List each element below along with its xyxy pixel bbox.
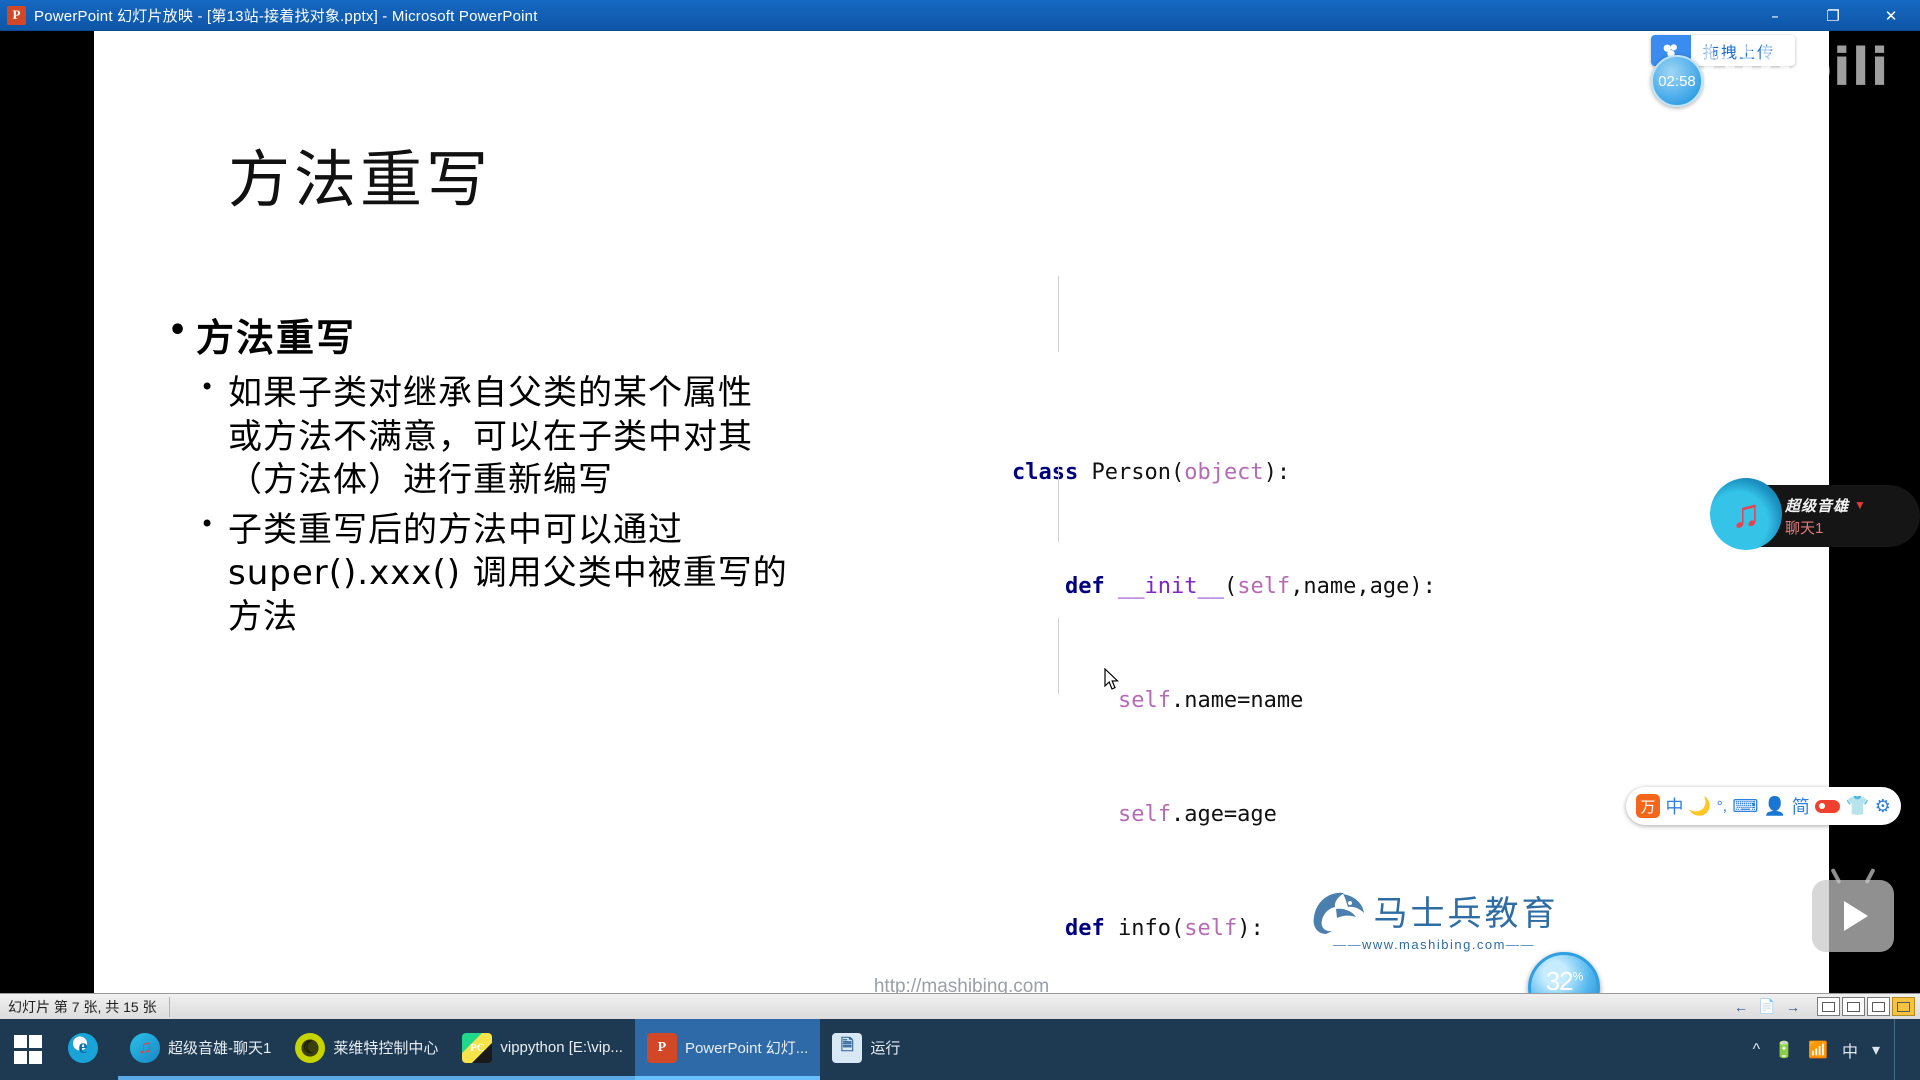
audio-widget-name: 超级音雄 [1785,495,1849,516]
arrow-left-icon[interactable]: ← [1728,996,1754,1018]
bilibili-watermark: bilibili [1700,38,1889,98]
taskbar-label-powerpoint: PowerPoint 幻灯... [685,1037,808,1058]
chevron-up-icon[interactable]: ^ [1753,1041,1761,1059]
speed-ball-unit: % [1573,969,1583,983]
audio-widget-sub: 聊天1 [1785,517,1866,538]
arrow-right-icon[interactable]: → [1780,996,1806,1018]
indent-guide [1058,618,1059,694]
indent-guide [1058,466,1059,542]
bullet-sub-1: 如果子类对继承自父类的某个属性 或方法不满意，可以在子类中对其 （方法体）进行重… [156,372,956,503]
mashibing-logo-text: 马士兵教育 [1374,886,1559,935]
page-title: 方法重写 [228,129,492,219]
bullet-main: 方法重写 [156,311,956,366]
baidu-timer-badge[interactable]: 02:58 [1651,55,1703,107]
mashibing-logo-row: 马士兵教育 [1309,886,1559,935]
mashibing-logo-url: www.mashibing.com [1309,937,1559,952]
speed-ball-percent: 32% [1546,968,1583,994]
window-controls: – ❐ ✕ [1746,0,1920,31]
bullet-sub-1-line-1: 如果子类对继承自父类的某个属性 [228,372,956,416]
punctuation-icon[interactable]: °, [1717,798,1727,815]
windows-logo-icon [14,1035,43,1064]
keyboard-icon[interactable]: ⌨ [1732,796,1758,817]
start-button[interactable] [0,1019,56,1080]
taskbar-item-pycharm[interactable]: PC vippython [E:\vip... [450,1019,635,1080]
lewitt-icon: ☾ [295,1033,325,1063]
slide-canvas[interactable]: 方法重写 方法重写 如果子类对继承自父类的某个属性 或方法不满意，可以在子类中对… [94,31,1829,993]
powerpoint-statusbar: 幻灯片 第 7 张, 共 15 张 ← 📄 → [0,993,1920,1019]
statusbar-right-controls: ← 📄 → [1728,996,1916,1018]
notes-icon[interactable]: 📄 [1754,996,1780,1018]
user-icon[interactable]: 👤 [1764,796,1786,817]
code-line-1: class Person(object): [1012,454,1802,492]
windows-taskbar: e 超级音雄-聊天1 ☾ 莱维特控制中心 PC vippython [E:\vi… [0,1019,1920,1080]
taskbar-label-pycharm: vippython [E:\vip... [500,1039,623,1056]
minimize-button[interactable]: – [1746,0,1804,31]
taskbar-item-powerpoint[interactable]: P PowerPoint 幻灯... [635,1019,820,1080]
slideshow-view-button[interactable] [1892,997,1915,1016]
code-line-2: def __init__(self,name,age): [1012,568,1802,606]
taskbar-label-run: 运行 [870,1037,900,1058]
maximize-button[interactable]: ❐ [1804,0,1862,31]
normal-view-button[interactable] [1817,997,1840,1016]
mouse-cursor [1104,668,1120,692]
sorter-view-button[interactable] [1842,997,1865,1016]
code-block: class Person(object): def __init__(self,… [1012,226,1802,993]
taskbar-label-chaojiyinxiong: 超级音雄-聊天1 [168,1037,271,1058]
taskbar-item-chaojiyinxiong[interactable]: 超级音雄-聊天1 [118,1019,283,1080]
simplified-chinese-button[interactable]: 简 [1792,793,1810,819]
indent-guide [1058,276,1059,352]
ime-logo-icon[interactable]: 万 [1636,794,1660,818]
mashibing-logo: 马士兵教育 www.mashibing.com [1309,886,1559,952]
bullet-sub-2-line-2: super().xxx() 调用父类中被重写的 [228,552,956,596]
bullet-sub-1-line-2: 或方法不满意，可以在子类中对其 [228,416,956,460]
audio-widget-caret-icon[interactable]: ▼ [1854,498,1866,512]
powerpoint-icon: P [7,6,26,25]
pycharm-icon: PC [462,1033,492,1063]
bullet-sub-2-line-1: 子类重写后的方法中可以通过 [228,509,956,553]
ime-toolbar[interactable]: 万 中 🌙 °, ⌨ 👤 简 👕 ⚙ [1626,787,1901,825]
gear-icon[interactable]: ⚙ [1875,796,1891,817]
slide-bullet-list: 方法重写 如果子类对继承自父类的某个属性 或方法不满意，可以在子类中对其 （方法… [156,311,956,639]
system-tray: ^ 🔋 📶 中 ▾ [1753,1019,1920,1080]
tray-expand-icon[interactable]: ▾ [1872,1040,1880,1060]
reading-view-button[interactable] [1867,997,1890,1016]
code-line-3: self.name=name [1012,682,1802,720]
taskbar-label-laiweite: 莱维特控制中心 [333,1037,438,1058]
taskbar-item-internet-explorer[interactable]: e [56,1019,118,1080]
window-title: PowerPoint 幻灯片放映 - [第13站-接着找对象.pptx] - M… [34,5,538,26]
battery-icon[interactable]: 🔋 [1774,1040,1794,1060]
close-button[interactable]: ✕ [1862,0,1920,31]
shirt-icon[interactable]: 👕 [1846,794,1870,818]
taskbar-item-laiweite-control[interactable]: ☾ 莱维特控制中心 [283,1019,450,1080]
tray-ime-indicator[interactable]: 中 [1842,1038,1858,1062]
bullet-sub-2: 子类重写后的方法中可以通过 super().xxx() 调用父类中被重写的 方法 [156,509,956,640]
ie-icon: e [68,1033,98,1063]
network-icon[interactable]: 📶 [1808,1040,1828,1060]
show-desktop-button[interactable] [1894,1019,1904,1080]
horse-icon [1310,887,1368,935]
ime-mode-button[interactable]: 中 [1665,793,1683,819]
play-icon[interactable] [1812,880,1894,952]
music-icon [130,1033,160,1063]
capsule-icon[interactable] [1815,800,1840,813]
bullet-sub-1-line-3: （方法体）进行重新编写 [228,459,956,503]
audio-widget-logo-icon: ♫ [1710,478,1782,550]
moon-icon[interactable]: 🌙 [1689,796,1711,817]
window-titlebar: P PowerPoint 幻灯片放映 - [第13站-接着找对象.pptx] -… [0,0,1920,31]
slide-counter: 幻灯片 第 7 张, 共 15 张 [0,997,170,1017]
run-icon: 🗎 [832,1033,862,1063]
bullet-sub-2-line-3: 方法 [228,596,956,640]
ppt-icon: P [647,1033,677,1063]
screen: P PowerPoint 幻灯片放映 - [第13站-接着找对象.pptx] -… [0,0,1920,1080]
taskbar-item-run-dialog[interactable]: 🗎 运行 [820,1019,912,1080]
